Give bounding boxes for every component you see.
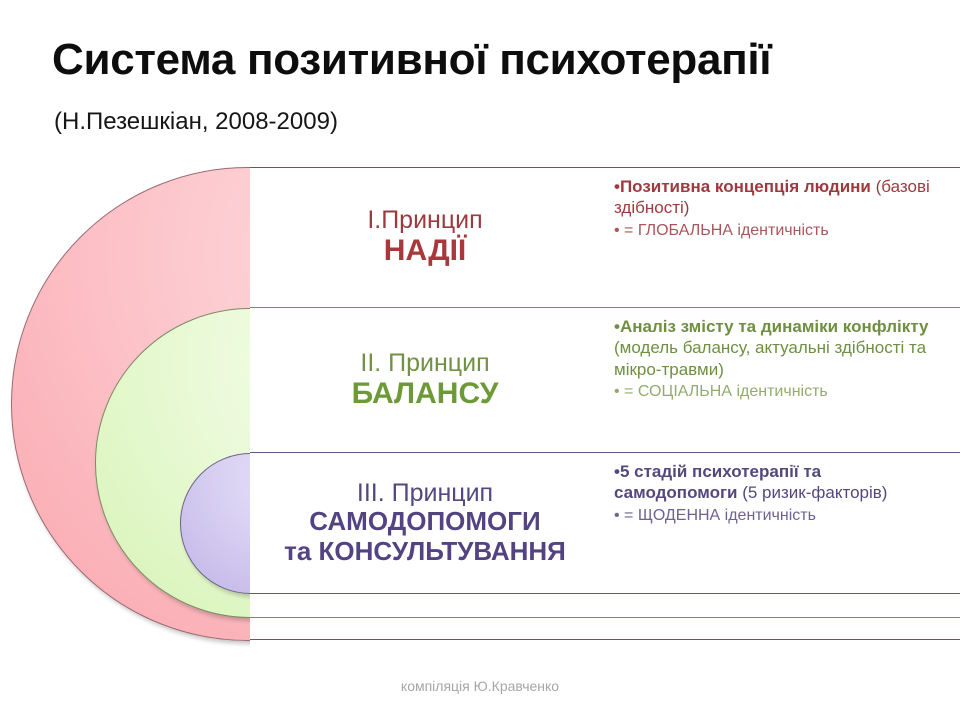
principle-cell-self-help: ІІІ. Принцип САМОДОПОМОГИ та КОНСУЛЬТУВА… — [250, 453, 600, 593]
slide-canvas: Система позитивної психотерапії (Н.Пезеш… — [0, 0, 960, 720]
footer-credit: компіляція Ю.Кравченко — [0, 678, 960, 694]
bullet-sub: • = ГЛОБАЛЬНА ідентичність — [614, 221, 946, 242]
page-subtitle: (Н.Пезешкіан, 2008-2009) — [54, 108, 338, 137]
principle-cell-hope: І.Принцип НАДІЇ — [250, 168, 600, 307]
bullet-main-rest: (5 ризик-факторів) — [738, 483, 888, 502]
bullet-sub: • = СОЦІАЛЬНА ідентичність — [614, 382, 946, 403]
page-title: Система позитивної психотерапії — [52, 36, 932, 84]
table-row: І.Принцип НАДІЇ •Позитивна концепція люд… — [250, 167, 960, 308]
bullet-main: •Аналіз змісту та динаміки конфлікту (мо… — [614, 316, 946, 380]
principle-cell-balance: ІІ. Принцип БАЛАНСУ — [250, 308, 600, 452]
principle-name: НАДІЇ — [384, 234, 466, 268]
principle-label: І.Принцип — [367, 206, 482, 234]
bullet-sub: • = ЩОДЕННА ідентичність — [614, 506, 946, 527]
table-row-spacer — [250, 618, 960, 640]
description-cell-hope: •Позитивна концепція людини (базові здіб… — [600, 168, 960, 307]
bullet-main: •Позитивна концепція людини (базові здіб… — [614, 176, 946, 219]
table-row: ІІ. Принцип БАЛАНСУ •Аналіз змісту та ди… — [250, 308, 960, 453]
bullet-main: •5 стадій психотерапії та самодопомоги (… — [614, 461, 946, 504]
table-row-spacer — [250, 594, 960, 618]
bullet-main-bold: •Позитивна концепція людини — [614, 177, 871, 196]
principle-name: БАЛАНСУ — [352, 377, 499, 411]
table-row: ІІІ. Принцип САМОДОПОМОГИ та КОНСУЛЬТУВА… — [250, 453, 960, 594]
description-cell-self-help: •5 стадій психотерапії та самодопомоги (… — [600, 453, 960, 593]
principles-table: І.Принцип НАДІЇ •Позитивна концепція люд… — [250, 167, 960, 641]
principle-name: САМОДОПОМОГИ — [309, 507, 540, 537]
bullet-main-rest: (модель балансу, актуальні здібності та … — [614, 338, 926, 378]
principle-name-second-line: та КОНСУЛЬТУВАННЯ — [284, 537, 566, 567]
principle-label: ІІ. Принцип — [360, 349, 489, 377]
principle-label: ІІІ. Принцип — [357, 479, 493, 507]
bullet-main-bold: •Аналіз змісту та динаміки конфлікту — [614, 317, 928, 336]
description-cell-balance: •Аналіз змісту та динаміки конфлікту (мо… — [600, 308, 960, 452]
